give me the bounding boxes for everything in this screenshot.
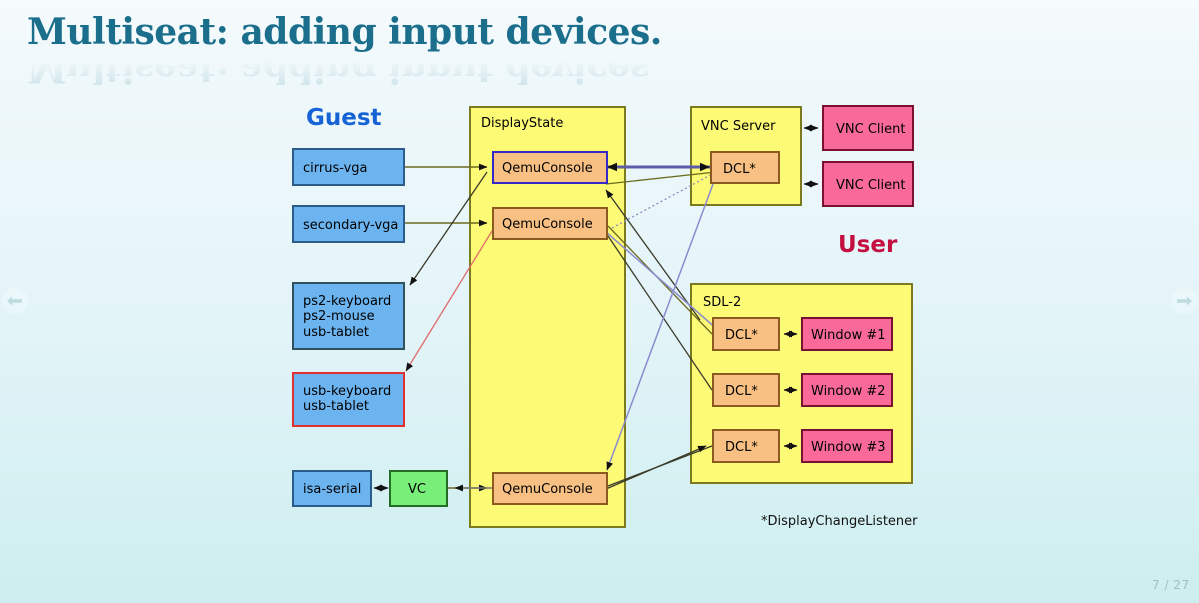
guest-device-label: secondary-vga	[303, 218, 398, 233]
nav-prev-button[interactable]	[2, 288, 28, 314]
arrow-right-icon	[1176, 295, 1192, 307]
sdl2-window-label: Window #2	[811, 384, 886, 399]
sdl2-window-2[interactable]: Window #2	[802, 374, 892, 406]
sdl2-dcl-label: DCL*	[725, 328, 758, 343]
guest-device-cirrus-vga[interactable]: cirrus-vga	[293, 149, 404, 185]
qemu-console-2[interactable]: QemuConsole	[493, 208, 607, 239]
sdl2-window-label: Window #1	[811, 328, 886, 343]
qemu-console-3[interactable]: QemuConsole	[493, 473, 607, 504]
vc-box[interactable]: VC	[390, 471, 447, 506]
vnc-dcl-label: DCL*	[723, 162, 756, 177]
page-counter: 7 / 27	[1152, 578, 1190, 592]
vnc-server-title: VNC Server	[701, 119, 776, 134]
guest-device-label: cirrus-vga	[303, 161, 368, 176]
sdl2-window-1[interactable]: Window #1	[802, 318, 892, 350]
sdl2-window-label: Window #3	[811, 440, 886, 455]
vnc-client-2[interactable]: VNC Client	[823, 162, 913, 206]
display-state-title: DisplayState	[481, 116, 563, 131]
guest-device-label: ps2-mouse	[303, 309, 375, 324]
multiseat-architecture-diagram: DisplayState VNC Server SDL-2	[0, 0, 1199, 603]
sdl2-title: SDL-2	[703, 295, 741, 310]
vc-label: VC	[408, 482, 426, 497]
guest-device-ps2-input[interactable]: ps2-keyboard ps2-mouse usb-tablet	[293, 283, 404, 349]
nav-next-button[interactable]	[1171, 288, 1197, 314]
qemu-console-1[interactable]: QemuConsole	[493, 152, 607, 183]
arrow-left-icon	[7, 295, 23, 307]
sdl2-dcl-3[interactable]: DCL*	[713, 430, 779, 462]
qemu-console-label: QemuConsole	[502, 161, 593, 176]
guest-device-label: isa-serial	[303, 482, 361, 497]
guest-device-label: usb-tablet	[303, 399, 369, 414]
qemu-console-label: QemuConsole	[502, 217, 593, 232]
qemu-console-label: QemuConsole	[502, 482, 593, 497]
guest-zone-label: Guest	[306, 105, 382, 131]
guest-device-isa-serial[interactable]: isa-serial	[293, 471, 371, 506]
slide-canvas: Multiseat: adding input devices. Multise…	[0, 0, 1199, 603]
vnc-dcl[interactable]: DCL*	[711, 152, 779, 183]
sdl2-window-3[interactable]: Window #3	[802, 430, 892, 462]
guest-device-label: ps2-keyboard	[303, 294, 391, 309]
guest-device-secondary-vga[interactable]: secondary-vga	[293, 206, 404, 242]
user-zone-label: User	[838, 232, 898, 258]
sdl2-dcl-label: DCL*	[725, 440, 758, 455]
sdl2-dcl-2[interactable]: DCL*	[713, 374, 779, 406]
sdl2-dcl-label: DCL*	[725, 384, 758, 399]
vnc-client-1[interactable]: VNC Client	[823, 106, 913, 150]
footnote: *DisplayChangeListener	[761, 514, 918, 529]
guest-device-label: usb-tablet	[303, 325, 369, 340]
vnc-client-label: VNC Client	[836, 122, 905, 137]
sdl2-dcl-1[interactable]: DCL*	[713, 318, 779, 350]
guest-device-usb-input[interactable]: usb-keyboard usb-tablet	[293, 373, 404, 426]
guest-device-label: usb-keyboard	[303, 384, 391, 399]
vnc-client-label: VNC Client	[836, 178, 905, 193]
